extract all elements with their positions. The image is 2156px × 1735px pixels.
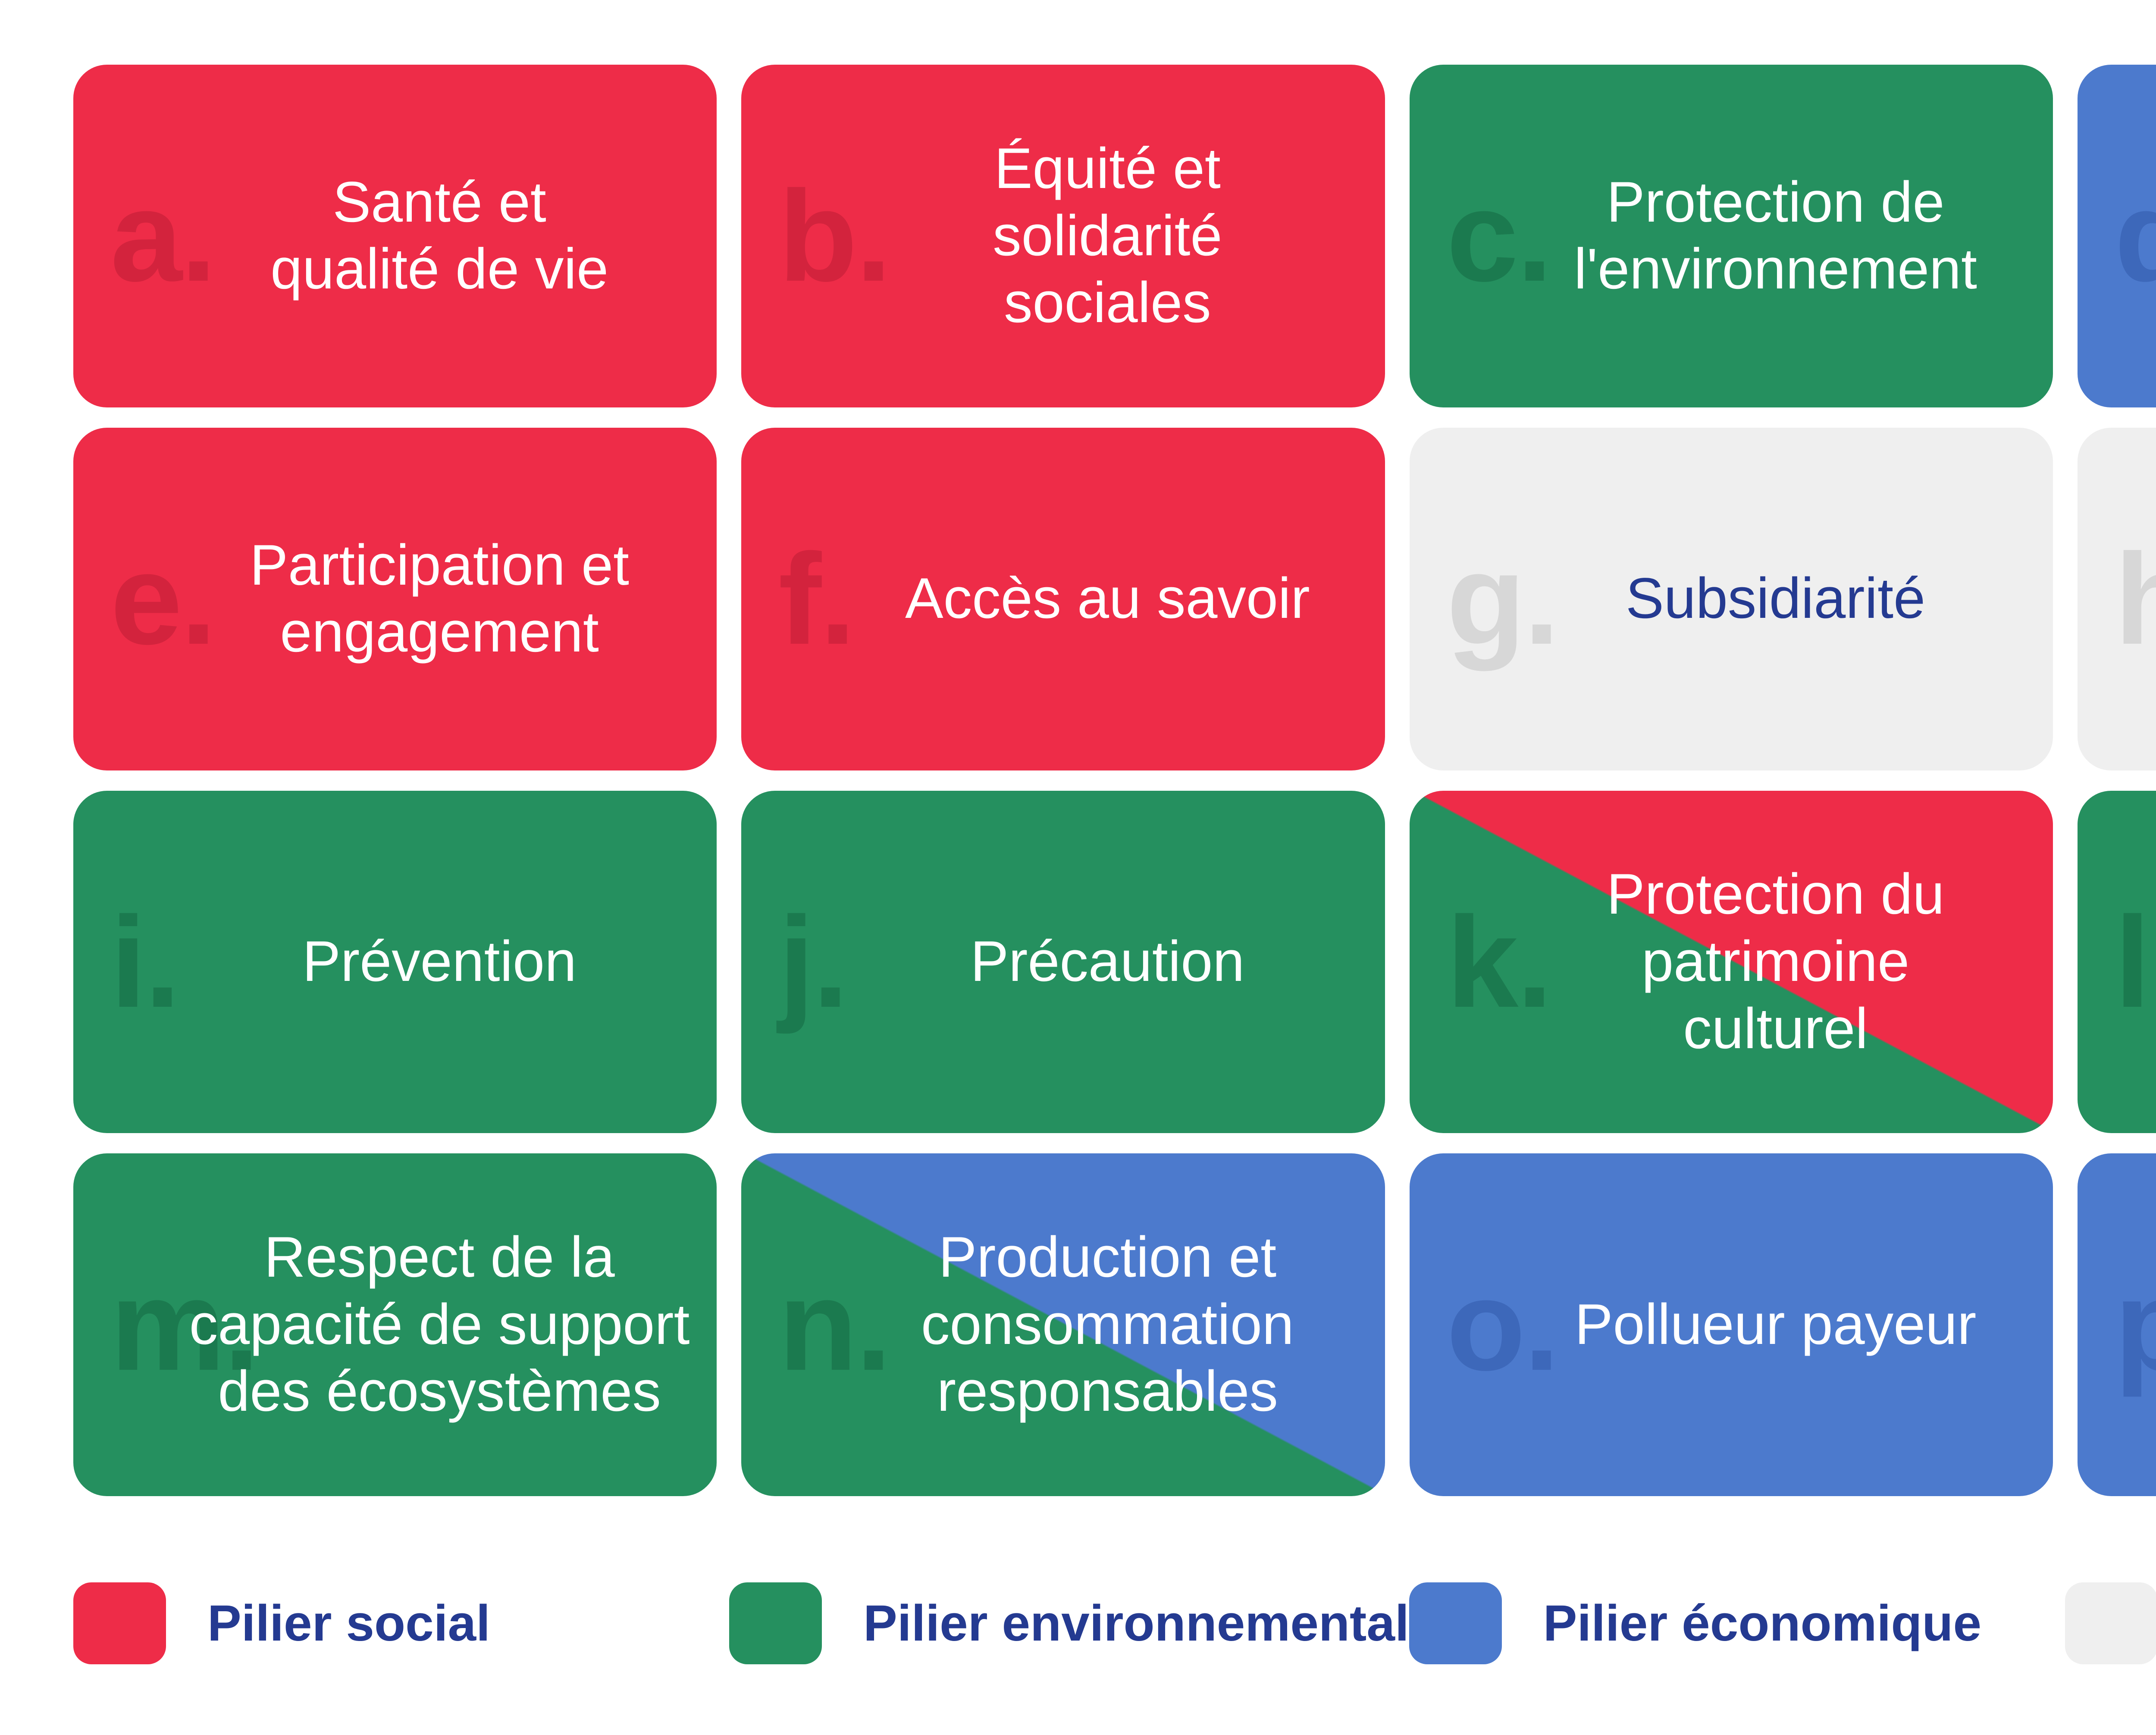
legend-label-environmental: Pilier environnemental — [863, 1594, 1409, 1653]
principle-card-k[interactable]: k. Protection du patrimoine culturel — [1410, 791, 2053, 1134]
principle-card-n[interactable]: n. Production et consommation responsabl… — [741, 1153, 1385, 1496]
legend: Pilier social Pilier environnemental Pil… — [73, 1559, 2156, 1688]
principle-card-f[interactable]: f. Accès au savoir — [741, 428, 1385, 770]
principle-card-o[interactable]: o. Pollueur payeur — [1410, 1153, 2053, 1496]
principle-card-j[interactable]: j. Précaution — [741, 791, 1385, 1134]
principle-card-m[interactable]: m. Respect de la capacité de support des… — [73, 1153, 717, 1496]
legend-swatch-social — [73, 1582, 166, 1664]
legend-label-social: Pilier social — [207, 1594, 490, 1653]
card-letter-p: p. — [2115, 1278, 2156, 1372]
principle-card-c[interactable]: c. Protection de l'environnement — [1410, 65, 2053, 407]
legend-item-governance[interactable]: Gouvernance — [2065, 1559, 2156, 1688]
card-title-c: Protection de l'environnement — [1524, 169, 2053, 303]
legend-swatch-economic — [1409, 1582, 1502, 1664]
card-letter-h: h. — [2115, 552, 2156, 645]
card-letter-d: d. — [2115, 189, 2156, 282]
card-title-m: Respect de la capacité de support des éc… — [188, 1224, 717, 1425]
principle-card-a[interactable]: a. Santé et qualité de vie — [73, 65, 717, 407]
legend-item-economic[interactable]: Pilier économique — [1409, 1559, 2065, 1688]
legend-item-social[interactable]: Pilier social — [73, 1559, 729, 1688]
principle-card-p[interactable]: p. Internalisation des coûts — [2078, 1153, 2156, 1496]
principle-card-b[interactable]: b. Équité et solidarité sociales — [741, 65, 1385, 407]
card-title-k: Protection du patrimoine culturel — [1524, 861, 2053, 1062]
legend-swatch-environmental — [729, 1582, 822, 1664]
principle-card-l[interactable]: l. Préservation de la biodiversité — [2078, 791, 2156, 1134]
principle-card-g[interactable]: g. Subsidiarité — [1410, 428, 2053, 770]
card-title-a: Santé et qualité de vie — [188, 169, 717, 303]
legend-item-environmental[interactable]: Pilier environnemental — [729, 1559, 1409, 1688]
card-title-i: Prévention — [188, 928, 717, 996]
card-title-f: Accès au savoir — [856, 565, 1385, 633]
principle-card-i[interactable]: i. Prévention — [73, 791, 717, 1134]
card-title-n: Production et consommation responsables — [856, 1224, 1385, 1425]
card-title-o: Pollueur payeur — [1524, 1291, 2053, 1359]
principle-card-h[interactable]: h. Partenariat et coopération intergouve… — [2078, 428, 2156, 770]
card-letter-l: l. — [2115, 915, 2156, 1008]
principle-card-d[interactable]: d. Efficacité économique — [2078, 65, 2156, 407]
card-title-e: Participation et engagement — [188, 532, 717, 666]
principles-board: a. Santé et qualité de vie b. Équité et … — [0, 0, 2156, 1735]
legend-label-economic: Pilier économique — [1543, 1594, 1981, 1653]
principle-card-e[interactable]: e. Participation et engagement — [73, 428, 717, 770]
principles-grid: a. Santé et qualité de vie b. Équité et … — [73, 65, 2156, 1496]
card-title-g: Subsidiarité — [1524, 565, 2053, 633]
card-title-j: Précaution — [856, 928, 1385, 996]
card-title-b: Équité et solidarité sociales — [856, 135, 1385, 337]
legend-swatch-governance — [2065, 1582, 2156, 1664]
